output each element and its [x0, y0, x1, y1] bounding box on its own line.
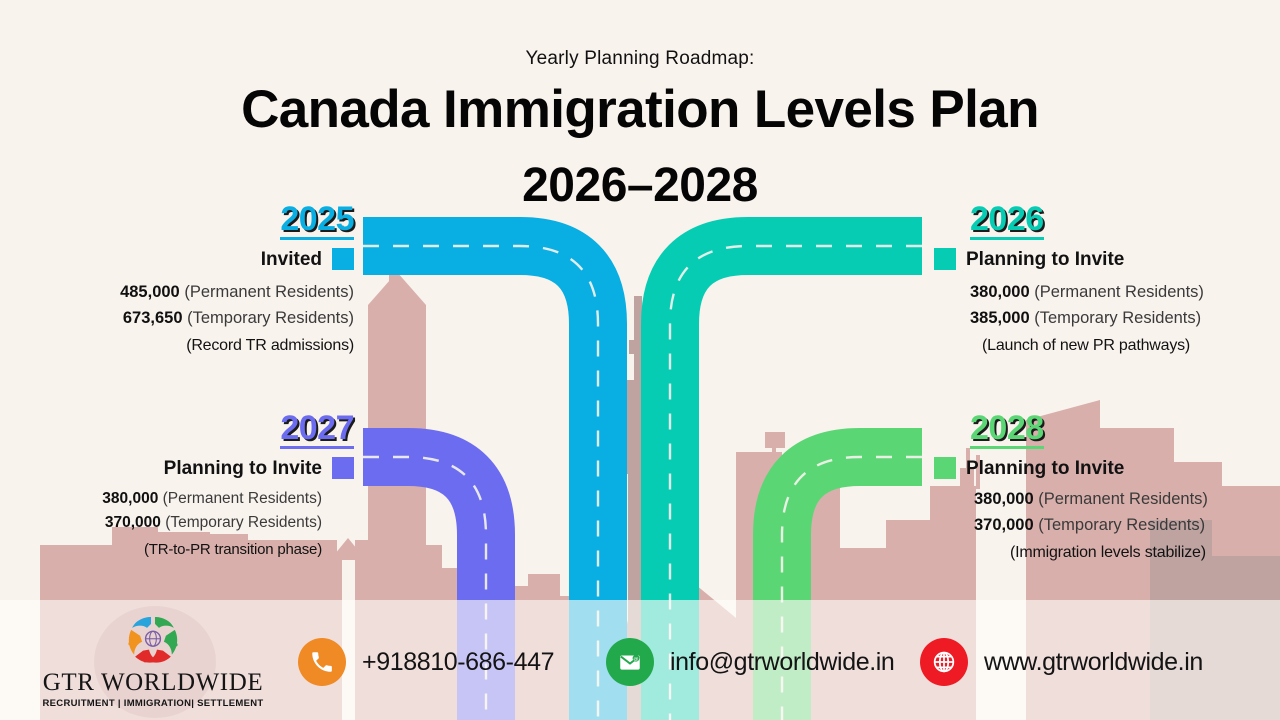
infographic-canvas: .rd{fill:none;stroke-width:58;} .dash{fi… [0, 0, 1280, 720]
svg-text:@: @ [633, 656, 638, 662]
logo-company-name: GTR WORLDWIDE [43, 670, 264, 695]
gtr-globe-icon [121, 612, 185, 668]
phone-icon [298, 638, 346, 686]
logo-tagline: RECRUITMENT | IMMIGRATION| SETTLEMENT [42, 699, 263, 709]
globe-icon [920, 638, 968, 686]
contact-email[interactable]: @ info@gtrworldwide.in [606, 638, 894, 686]
footer-bar: GTR WORLDWIDE RECRUITMENT | IMMIGRATION|… [0, 0, 1280, 720]
phone-number: +918810-686-447 [362, 648, 554, 677]
email-icon: @ [606, 638, 654, 686]
contact-phone[interactable]: +918810-686-447 [298, 638, 554, 686]
website-url: www.gtrworldwide.in [984, 648, 1203, 677]
contact-website[interactable]: www.gtrworldwide.in [920, 638, 1203, 686]
brand-logo[interactable]: GTR WORLDWIDE RECRUITMENT | IMMIGRATION|… [38, 612, 268, 708]
email-address: info@gtrworldwide.in [670, 648, 894, 677]
